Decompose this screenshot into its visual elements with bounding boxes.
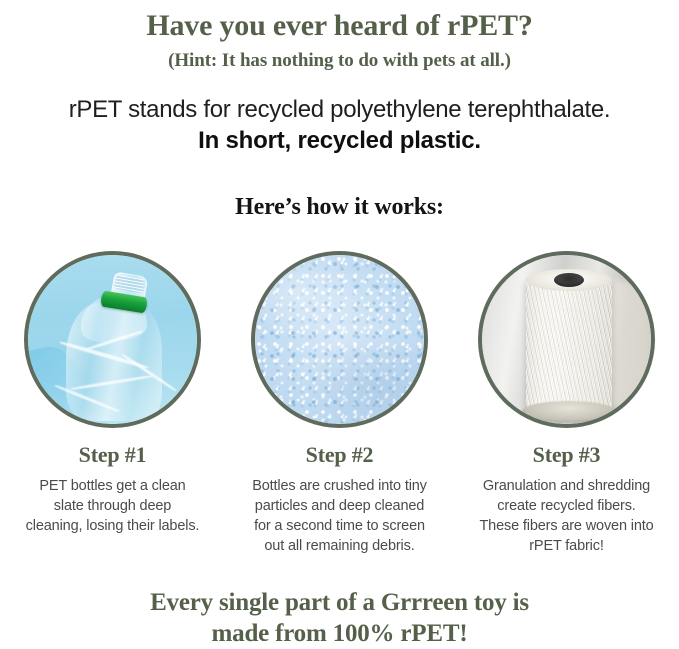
spool-center-hole xyxy=(554,273,584,287)
step-3-desc-line: These fibers are woven into xyxy=(479,518,653,534)
crushed-pet-bottle-photo xyxy=(28,255,197,424)
footer-tagline-line-1: Every single part of a Grrreen toy is xyxy=(0,587,679,618)
thread-spool-photo xyxy=(482,255,651,424)
step-1: Step #1 PET bottles get a clean slate th… xyxy=(11,251,214,556)
step-2-desc-line: out all remaining debris. xyxy=(264,538,414,554)
step-2-desc-line: Bottles are crushed into tiny xyxy=(252,478,427,494)
thread-winding-texture xyxy=(526,279,612,411)
lede-line-1: rPET stands for recycled polyethylene te… xyxy=(0,95,679,125)
lede-paragraph: rPET stands for recycled polyethylene te… xyxy=(0,95,679,157)
footer-tagline-line-2: made from 100% rPET! xyxy=(0,618,679,649)
page-title: Have you ever heard of rPET? xyxy=(0,9,679,43)
step-2-desc-line: particles and deep cleaned xyxy=(255,498,424,514)
step-3-description: Granulation and shredding create recycle… xyxy=(465,476,668,556)
spool-base xyxy=(522,401,616,421)
pet-flakes-photo xyxy=(255,255,424,424)
step-2-description: Bottles are crushed into tiny particles … xyxy=(238,476,441,556)
step-3: Step #3 Granulation and shredding create… xyxy=(465,251,668,556)
spool-body xyxy=(526,279,612,411)
step-1-description: PET bottles get a clean slate through de… xyxy=(11,476,214,536)
how-it-works-heading: Here’s how it works: xyxy=(0,193,679,221)
steps-row: Step #1 PET bottles get a clean slate th… xyxy=(0,251,679,556)
step-1-image-frame xyxy=(24,251,201,428)
step-3-image-frame xyxy=(478,251,655,428)
step-2-label: Step #2 xyxy=(306,442,374,468)
step-2-desc-line: for a second time to screen xyxy=(254,518,425,534)
step-3-desc-line: rPET fabric! xyxy=(529,538,603,554)
step-1-desc-line: slate through deep xyxy=(54,498,171,514)
step-1-desc-line: PET bottles get a clean xyxy=(39,478,185,494)
step-2-image-frame xyxy=(251,251,428,428)
step-1-desc-line: cleaning, losing their labels. xyxy=(26,518,200,534)
step-3-desc-line: Granulation and shredding xyxy=(483,478,650,494)
step-3-label: Step #3 xyxy=(533,442,601,468)
lede-line-2: In short, recycled plastic. xyxy=(0,125,679,157)
header-block: Have you ever heard of rPET? (Hint: It h… xyxy=(0,0,679,221)
step-2: Step #2 Bottles are crushed into tiny pa… xyxy=(238,251,441,556)
headline-hint: (Hint: It has nothing to do with pets at… xyxy=(0,49,679,73)
step-1-label: Step #1 xyxy=(79,442,147,468)
flake-shading-layer xyxy=(255,255,424,424)
step-3-desc-line: create recycled fibers. xyxy=(497,498,635,514)
footer-tagline: Every single part of a Grrreen toy is ma… xyxy=(0,587,679,649)
rpet-infographic: Have you ever heard of rPET? (Hint: It h… xyxy=(0,0,679,649)
